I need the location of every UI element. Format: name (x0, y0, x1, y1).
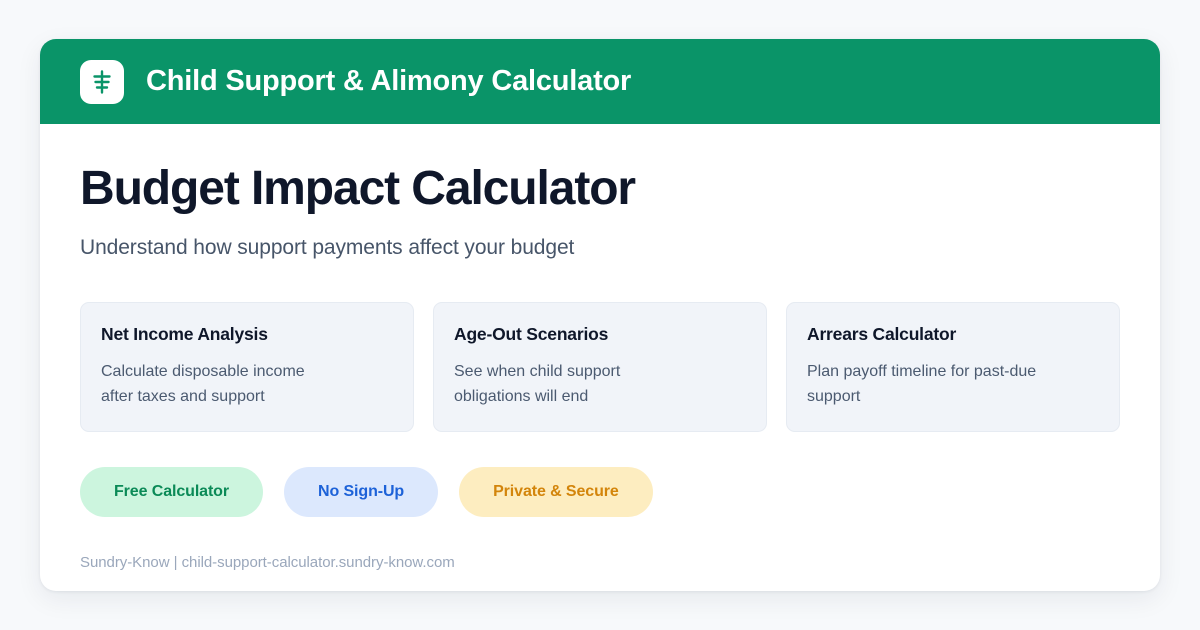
feature-card-description: See when child support obligations will … (454, 359, 684, 410)
feature-card-age-out-scenarios[interactable]: Age-Out Scenarios See when child support… (433, 302, 767, 433)
badge-no-sign-up: No Sign-Up (284, 467, 438, 517)
footer-attribution: Sundry-Know | child-support-calculator.s… (80, 554, 1120, 571)
feature-card-grid: Net Income Analysis Calculate disposable… (80, 302, 1120, 433)
feature-card-title: Net Income Analysis (101, 324, 393, 345)
badge-private-and-secure: Private & Secure (459, 467, 653, 517)
page-subtitle: Understand how support payments affect y… (80, 236, 1120, 260)
app-card: Child Support & Alimony Calculator Budge… (40, 39, 1160, 591)
feature-card-description: Calculate disposable income after taxes … (101, 359, 331, 410)
feature-card-net-income-analysis[interactable]: Net Income Analysis Calculate disposable… (80, 302, 414, 433)
feature-card-title: Arrears Calculator (807, 324, 1099, 345)
brand-logo (80, 60, 124, 104)
badge-row: Free Calculator No Sign-Up Private & Sec… (80, 467, 1120, 517)
feature-card-arrears-calculator[interactable]: Arrears Calculator Plan payoff timeline … (786, 302, 1120, 433)
page-title: Budget Impact Calculator (80, 164, 1120, 215)
feature-card-title: Age-Out Scenarios (454, 324, 746, 345)
app-body: Budget Impact Calculator Understand how … (40, 124, 1160, 591)
app-header: Child Support & Alimony Calculator (40, 39, 1160, 124)
feature-card-description: Plan payoff timeline for past-due suppor… (807, 359, 1037, 410)
app-header-title: Child Support & Alimony Calculator (146, 65, 631, 98)
badge-free-calculator: Free Calculator (80, 467, 263, 517)
page-stage: Child Support & Alimony Calculator Budge… (0, 0, 1200, 630)
double-dagger-scales-icon (91, 69, 113, 95)
